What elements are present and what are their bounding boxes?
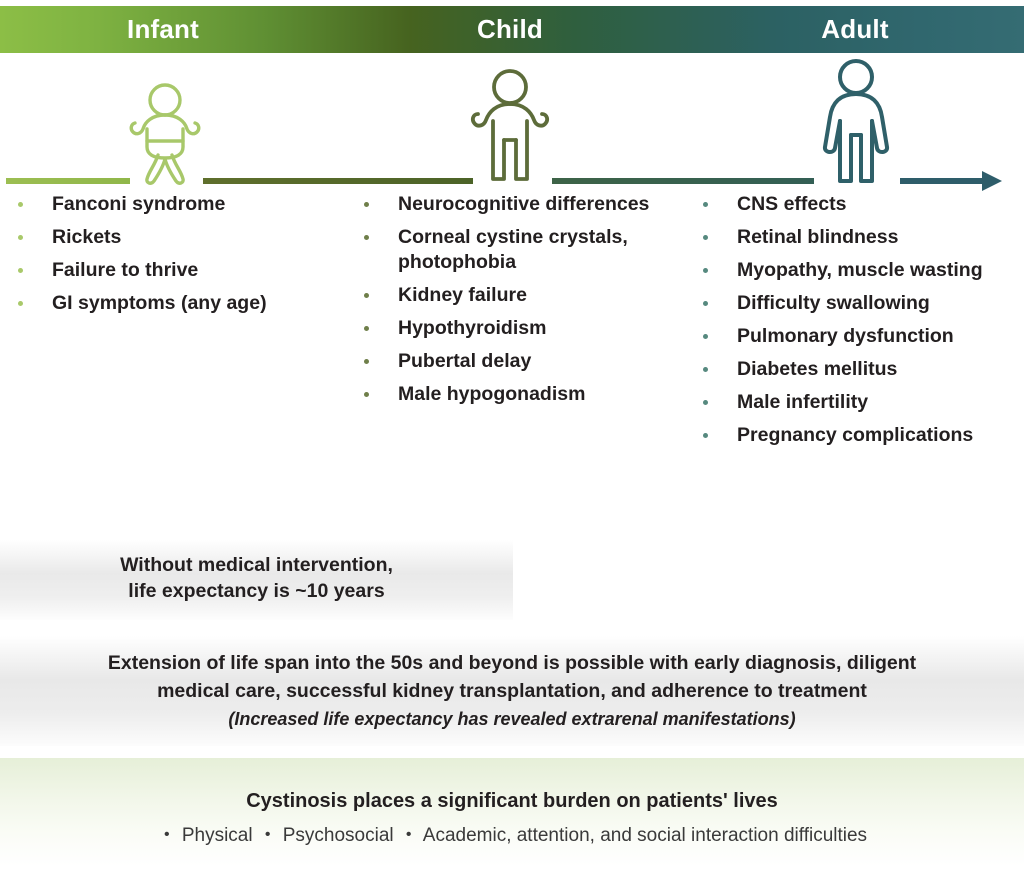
- life-extension-line-2: medical care, successful kidney transpla…: [0, 677, 1024, 705]
- bullet-icon: •: [164, 820, 170, 850]
- timeline-segment-1: [6, 178, 130, 184]
- symptom-text: Corneal cystine crystals, photophobia: [398, 226, 628, 273]
- symptom-text: Difficulty swallowing: [737, 292, 930, 314]
- bullet-icon: [703, 334, 708, 339]
- bullet-icon: [18, 301, 23, 306]
- bullet-icon: [703, 202, 708, 207]
- burden-items-row: • Physical • Psychosocial • Academic, at…: [0, 820, 1024, 851]
- bullet-icon: [364, 293, 369, 298]
- right-arrow-icon: [982, 171, 1002, 191]
- bullet-icon: [364, 202, 369, 207]
- symptom-text: Rickets: [52, 226, 121, 248]
- stage-label-infant: Infant: [60, 6, 266, 53]
- lifespan-timeline: [0, 55, 1024, 185]
- list-item: Pulmonary dysfunction: [699, 324, 1019, 349]
- bullet-icon: [703, 400, 708, 405]
- bullet-icon: [18, 202, 23, 207]
- bullet-icon: [18, 268, 23, 273]
- list-item: GI symptoms (any age): [14, 291, 344, 316]
- symptom-text: Pregnancy complications: [737, 424, 973, 446]
- symptom-text: Diabetes mellitus: [737, 358, 897, 380]
- symptom-column-infant: Fanconi syndrome Rickets Failure to thri…: [14, 192, 344, 324]
- symptom-text: Pubertal delay: [398, 350, 531, 372]
- life-expectancy-line-1: Without medical intervention,: [0, 552, 513, 578]
- patient-burden-panel: Cystinosis places a significant burden o…: [0, 758, 1024, 866]
- burden-item-psychosocial: Psychosocial: [283, 825, 394, 846]
- stage-label-adult: Adult: [752, 6, 958, 53]
- symptom-column-child: Neurocognitive differences Corneal cysti…: [360, 192, 690, 415]
- symptom-text: Retinal blindness: [737, 226, 898, 248]
- symptom-text: Hypothyroidism: [398, 317, 546, 339]
- list-item: Neurocognitive differences: [360, 192, 690, 217]
- stage-gradient-band: Infant Child Adult: [0, 6, 1024, 53]
- life-expectancy-line-2: life expectancy is ~10 years: [0, 578, 513, 604]
- timeline-segment-3: [552, 178, 814, 184]
- list-item: Pregnancy complications: [699, 423, 1019, 448]
- timeline-segment-4: [900, 178, 986, 184]
- list-item: Fanconi syndrome: [14, 192, 344, 217]
- bullet-icon: [18, 235, 23, 240]
- list-item: Failure to thrive: [14, 258, 344, 283]
- list-item: Difficulty swallowing: [699, 291, 1019, 316]
- list-item: Retinal blindness: [699, 225, 1019, 250]
- symptom-text: Male infertility: [737, 391, 868, 413]
- infant-figure-icon: [125, 55, 205, 190]
- symptom-text: Fanconi syndrome: [52, 193, 225, 215]
- bullet-icon: [703, 433, 708, 438]
- bullet-icon: [703, 235, 708, 240]
- life-extension-note: (Increased life expectancy has revealed …: [0, 705, 1024, 733]
- bullet-icon: [703, 301, 708, 306]
- child-figure-icon: [463, 55, 557, 190]
- list-item: Pubertal delay: [360, 349, 690, 374]
- burden-item-academic: Academic, attention, and social interact…: [423, 825, 867, 846]
- timeline-segment-2: [203, 178, 473, 184]
- stage-label-child: Child: [407, 6, 613, 53]
- symptom-text: Neurocognitive differences: [398, 193, 649, 215]
- bullet-icon: [364, 326, 369, 331]
- burden-headline: Cystinosis places a significant burden o…: [0, 786, 1024, 816]
- list-item: Diabetes mellitus: [699, 357, 1019, 382]
- life-extension-panel: Extension of life span into the 50s and …: [0, 636, 1024, 746]
- bullet-icon: •: [265, 820, 271, 850]
- bullet-icon: [703, 367, 708, 372]
- bullet-icon: •: [406, 820, 412, 850]
- list-item: Male hypogonadism: [360, 382, 690, 407]
- life-extension-line-1: Extension of life span into the 50s and …: [0, 649, 1024, 677]
- symptom-text: Kidney failure: [398, 284, 527, 306]
- bullet-icon: [703, 268, 708, 273]
- list-item: CNS effects: [699, 192, 1019, 217]
- symptom-text: Failure to thrive: [52, 259, 198, 281]
- symptom-column-adult: CNS effects Retinal blindness Myopathy, …: [699, 192, 1019, 456]
- list-item: Hypothyroidism: [360, 316, 690, 341]
- bullet-icon: [364, 359, 369, 364]
- symptom-columns: Fanconi syndrome Rickets Failure to thri…: [0, 192, 1024, 522]
- list-item: Kidney failure: [360, 283, 690, 308]
- symptom-text: Pulmonary dysfunction: [737, 325, 954, 347]
- burden-item-physical: Physical: [182, 825, 253, 846]
- symptom-text: Myopathy, muscle wasting: [737, 259, 983, 281]
- list-item: Rickets: [14, 225, 344, 250]
- list-item: Corneal cystine crystals, photophobia: [360, 225, 690, 275]
- bullet-icon: [364, 235, 369, 240]
- adult-figure-icon: [810, 55, 902, 190]
- symptom-text: GI symptoms (any age): [52, 292, 267, 314]
- symptom-text: CNS effects: [737, 193, 846, 215]
- list-item: Myopathy, muscle wasting: [699, 258, 1019, 283]
- bullet-icon: [364, 392, 369, 397]
- symptom-text: Male hypogonadism: [398, 383, 585, 405]
- life-expectancy-panel: Without medical intervention, life expec…: [0, 540, 513, 620]
- list-item: Male infertility: [699, 390, 1019, 415]
